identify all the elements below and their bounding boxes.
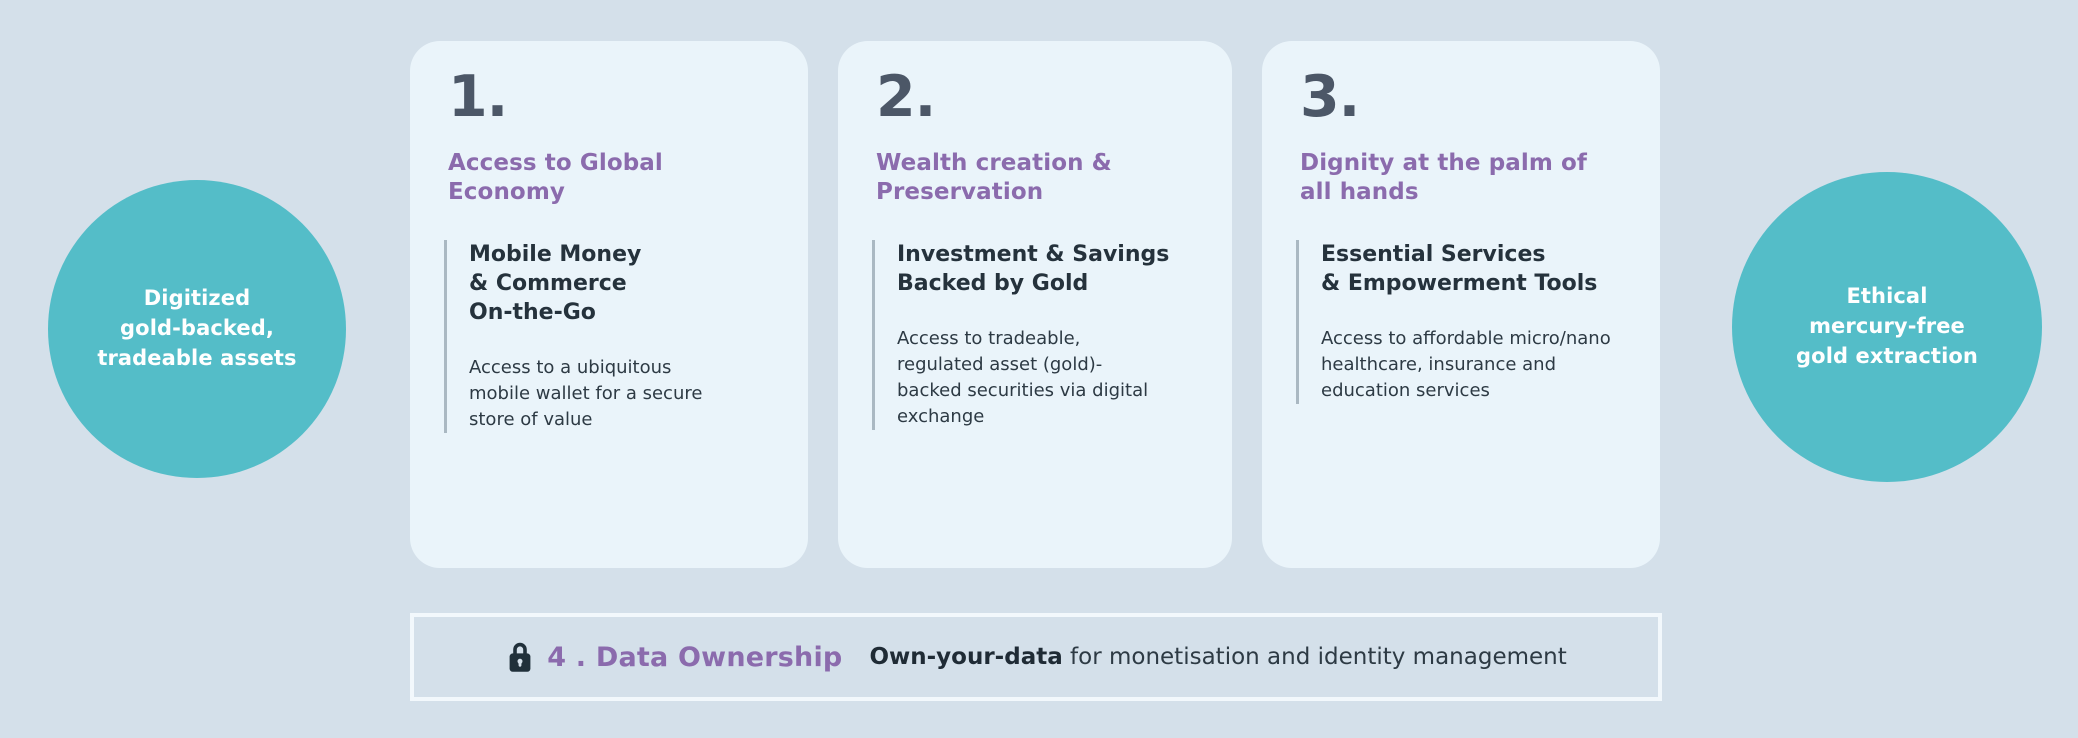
- card-2-subtitle: Investment & Savings Backed by Gold: [897, 240, 1198, 298]
- card-1-detail: Mobile Money & Commerce On-the-Go Access…: [444, 240, 774, 433]
- card-1-number: 1.: [448, 69, 774, 126]
- banner-strong-text: Own-your-data: [869, 644, 1062, 670]
- card-3-body: Access to affordable micro/nano healthca…: [1321, 326, 1626, 404]
- banner-label: 4 . Data Ownership: [547, 642, 842, 673]
- banner-rest-text: for monetisation and identity management: [1063, 644, 1567, 670]
- card-3-number: 3.: [1300, 69, 1626, 126]
- pillar-card-1[interactable]: 1. Access to Global Economy Mobile Money…: [410, 41, 808, 568]
- card-1-subtitle: Mobile Money & Commerce On-the-Go: [469, 240, 774, 327]
- right-circle-label: Ethical mercury-free gold extraction: [1796, 282, 1978, 371]
- card-3-detail: Essential Services & Empowerment Tools A…: [1296, 240, 1626, 404]
- pillar-card-2[interactable]: 2. Wealth creation & Preservation Invest…: [838, 41, 1232, 568]
- card-1-body: Access to a ubiquitous mobile wallet for…: [469, 355, 774, 433]
- left-circle-label: Digitized gold-backed, tradeable assets: [97, 284, 296, 373]
- card-1-heading: Access to Global Economy: [448, 149, 774, 208]
- card-3-subtitle: Essential Services & Empowerment Tools: [1321, 240, 1626, 298]
- card-2-body: Access to tradeable, regulated asset (go…: [897, 326, 1198, 430]
- card-3-heading: Dignity at the palm of all hands: [1300, 149, 1626, 208]
- card-2-number: 2.: [876, 69, 1198, 126]
- lock-icon: [505, 640, 535, 674]
- banner-description: Own-your-data for monetisation and ident…: [869, 644, 1566, 670]
- right-value-circle: Ethical mercury-free gold extraction: [1732, 172, 2042, 482]
- left-value-circle: Digitized gold-backed, tradeable assets: [48, 180, 346, 478]
- data-ownership-banner[interactable]: 4 . Data Ownership Own-your-data for mon…: [410, 613, 1662, 701]
- pillar-card-3[interactable]: 3. Dignity at the palm of all hands Esse…: [1262, 41, 1660, 568]
- card-2-heading: Wealth creation & Preservation: [876, 149, 1198, 208]
- card-2-detail: Investment & Savings Backed by Gold Acce…: [872, 240, 1198, 430]
- infographic-canvas: Digitized gold-backed, tradeable assets …: [0, 0, 2078, 738]
